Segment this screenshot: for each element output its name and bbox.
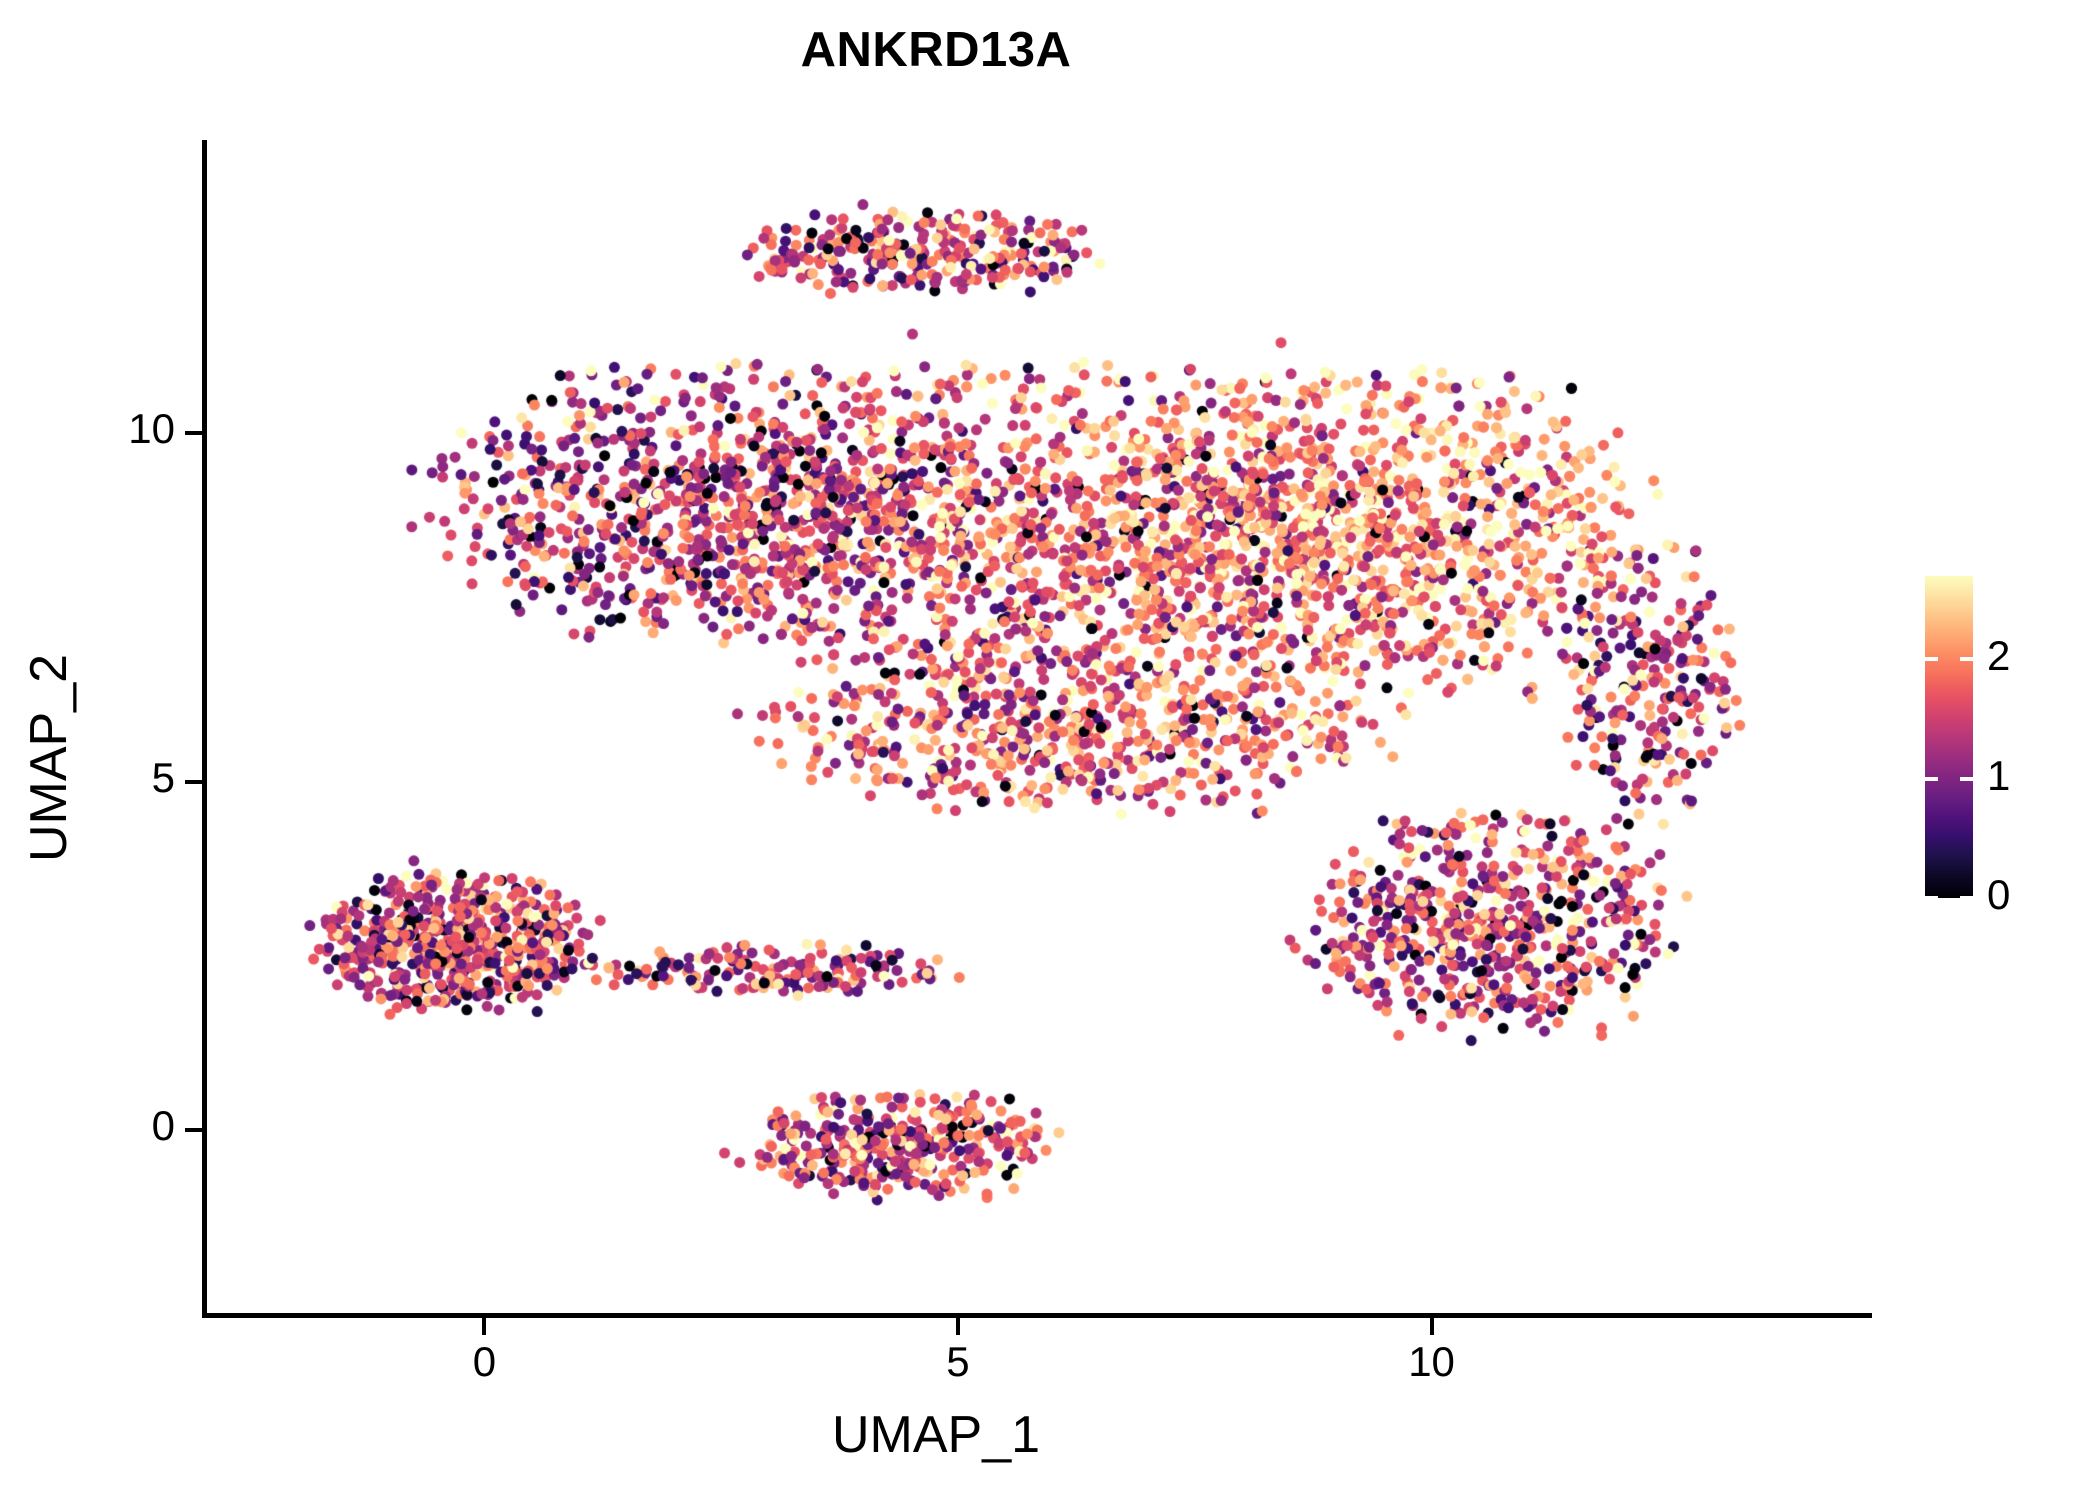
x-axis-line: [202, 1313, 1872, 1318]
y-axis-title: UMAP_2: [19, 408, 79, 1108]
x-axis-tick-mark: [956, 1318, 960, 1335]
scatter-plot-canvas: [205, 140, 1872, 1315]
y-axis-tick-mark: [185, 780, 202, 784]
x-axis-tick-mark: [482, 1318, 486, 1335]
y-axis-tick-mark: [185, 431, 202, 435]
y-axis-tick-mark: [185, 1128, 202, 1132]
y-axis-tick-label: 0: [55, 1102, 175, 1150]
x-axis-tick-label: 10: [1372, 1338, 1492, 1386]
colorbar-legend: 2 1 0: [1925, 576, 2095, 898]
y-axis-line: [202, 140, 207, 1318]
x-axis-title: UMAP_1: [0, 1405, 1872, 1465]
x-axis-tick-label: 0: [424, 1338, 544, 1386]
page-title: ANKRD13A: [0, 22, 1872, 78]
x-axis-tick-mark: [1430, 1318, 1434, 1335]
colorbar-gradient: [1925, 576, 1973, 898]
colorbar-tick-label: 1: [1987, 752, 2010, 800]
figure-root: ANKRD13A 10 5 0 0 5 10 UMAP_1 UMAP_2 2 1…: [0, 0, 2100, 1500]
colorbar-tick-label: 2: [1987, 632, 2010, 680]
x-axis-tick-label: 5: [898, 1338, 1018, 1386]
plot-panel: [205, 140, 1872, 1315]
colorbar-tick-label: 0: [1987, 871, 2010, 919]
